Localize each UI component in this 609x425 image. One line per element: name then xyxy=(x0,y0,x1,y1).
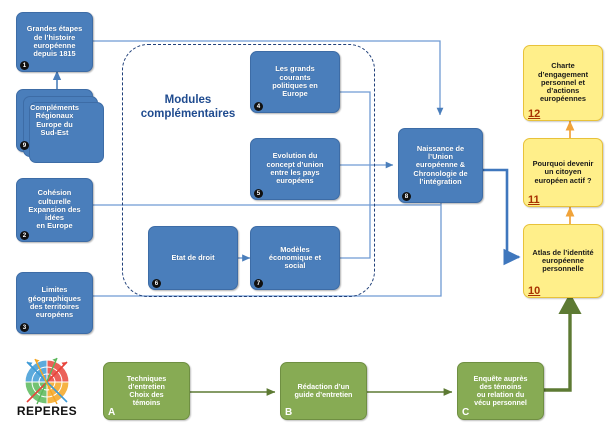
node-7-badge: 7 xyxy=(254,279,263,288)
node-11-label: Pourquoi devenir un citoyen européen act… xyxy=(530,160,597,185)
node-limites-geographiques[interactable]: Limites géographiques des territoires eu… xyxy=(16,272,93,334)
node-10-label: Atlas de l’identité européenne personnel… xyxy=(529,249,596,274)
node-c-badge: C xyxy=(462,407,469,419)
node-3-badge: 3 xyxy=(20,323,29,332)
node-b-badge: B xyxy=(285,407,292,419)
node-naissance-union-europeenne[interactable]: Naissance de l’Union européenne & Chrono… xyxy=(398,128,483,203)
node-complements-regionaux[interactable]: Compléments Régionaux Europe du Sud-Est … xyxy=(16,89,93,152)
node-evolution-concept-union[interactable]: Evolution du concept d’union entre les p… xyxy=(250,138,340,200)
modules-group-title: Modules complémentaires xyxy=(128,93,248,122)
node-4-label: Les grands courants politiques en Europe xyxy=(269,65,321,98)
node-6-label: Etat de droit xyxy=(168,254,217,262)
node-c-label: Enquête auprès des témoins ou relation d… xyxy=(471,375,531,407)
node-cohesion-culturelle[interactable]: Cohésion culturelle Expansion des idées … xyxy=(16,178,93,242)
node-12-label: Charte d’engagement personnel et d’actio… xyxy=(535,62,591,103)
diagram-canvas: Modules complémentaires xyxy=(0,0,609,425)
node-11-badge: 11 xyxy=(528,194,540,206)
node-grandes-etapes[interactable]: Grandes étapes de l’histoire européenne … xyxy=(16,12,93,72)
node-2-label: Cohésion culturelle Expansion des idées … xyxy=(25,189,83,230)
node-enquete-temoins[interactable]: Enquête auprès des témoins ou relation d… xyxy=(457,362,544,420)
node-3-label: Limites géographiques des territoires eu… xyxy=(25,286,84,319)
node-4-badge: 4 xyxy=(254,102,263,111)
node-grands-courants[interactable]: Les grands courants politiques en Europe… xyxy=(250,51,340,113)
node-charte-engagement[interactable]: Charte d’engagement personnel et d’actio… xyxy=(523,45,603,121)
node-1-label: Grandes étapes de l’histoire européenne … xyxy=(24,25,85,58)
node-9-label: Compléments Régionaux Europe du Sud-Est xyxy=(27,104,82,137)
node-2-badge: 2 xyxy=(20,231,29,240)
node-redaction-guide[interactable]: Rédaction d’un guide d’entretien B xyxy=(280,362,367,420)
node-7-label: Modèles économique et social xyxy=(266,246,324,271)
node-modeles-economique-social[interactable]: Modèles économique et social 7 xyxy=(250,226,340,290)
node-10-badge: 10 xyxy=(528,285,540,297)
node-5-label: Evolution du concept d’union entre les p… xyxy=(263,152,326,185)
node-6-badge: 6 xyxy=(152,279,161,288)
wire-c-to-10 xyxy=(544,299,570,390)
node-12-badge: 12 xyxy=(528,108,540,120)
node-atlas-identite[interactable]: Atlas de l’identité européenne personnel… xyxy=(523,224,603,298)
wire-8-to-10 xyxy=(483,170,519,257)
node-pourquoi-citoyen-actif[interactable]: Pourquoi devenir un citoyen européen act… xyxy=(523,138,603,207)
node-1-badge: 1 xyxy=(20,61,29,70)
node-etat-de-droit[interactable]: Etat de droit 6 xyxy=(148,226,238,290)
node-8-label: Naissance de l’Union européenne & Chrono… xyxy=(410,145,470,186)
node-8-badge: 8 xyxy=(402,192,411,201)
node-a-label: Techniques d’entretien Choix des témoins xyxy=(124,375,169,407)
logo-wordmark: REPERES xyxy=(11,404,83,418)
node-a-badge: A xyxy=(108,407,115,419)
node-techniques-entretien[interactable]: Techniques d’entretien Choix des témoins… xyxy=(103,362,190,420)
node-9-badge: 9 xyxy=(20,141,29,150)
node-b-label: Rédaction d’un guide d’entretien xyxy=(292,383,356,399)
node-5-badge: 5 xyxy=(254,189,263,198)
